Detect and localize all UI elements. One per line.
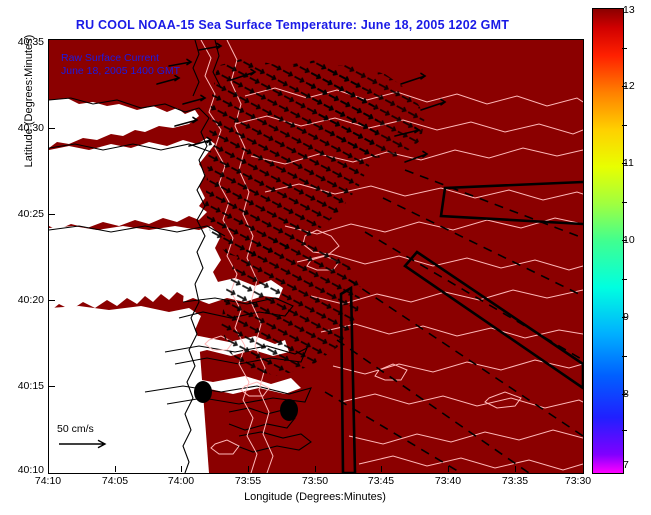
figure-title: RU COOL NOAA-15 Sea Surface Temperature:… [0, 18, 585, 32]
ytick-3: 40:20 [18, 294, 44, 306]
annotation-line-2: June 18, 2005 1400 GMT [61, 65, 180, 78]
sst-map-figure: RU COOL NOAA-15 Sea Surface Temperature:… [0, 0, 651, 515]
arrow-right-icon [57, 438, 115, 450]
cbtick-13: 13 [623, 4, 635, 16]
ytick-5: 40:10 [18, 464, 44, 476]
xtick-0: 74:10 [35, 475, 61, 487]
y-axis-label: Latitude (Degrees:Minutes) [23, 0, 35, 206]
annotation-line-1: Raw Surface Current [61, 52, 180, 65]
velocity-scale-label: 50 cm/s [57, 423, 115, 435]
xtick-1: 74:05 [102, 475, 128, 487]
xtick-4: 73:50 [302, 475, 328, 487]
sst-raster [49, 40, 583, 473]
xtick-3: 73:55 [235, 475, 261, 487]
cbtick-7: 7 [623, 459, 629, 471]
xtick-7: 73:35 [502, 475, 528, 487]
ytick-4: 40:15 [18, 380, 44, 392]
xtick-5: 73:45 [368, 475, 394, 487]
xtick-2: 74:00 [168, 475, 194, 487]
station-marker[interactable] [280, 399, 298, 421]
x-axis-label: Longitude (Degrees:Minutes) [48, 491, 582, 503]
xtick-6: 73:40 [435, 475, 461, 487]
velocity-scale-legend: 50 cm/s [57, 423, 115, 455]
current-annotation: Raw Surface Current June 18, 2005 1400 G… [61, 52, 180, 78]
station-marker[interactable] [194, 381, 212, 403]
ytick-2: 40:25 [18, 208, 44, 220]
colorbar [592, 8, 624, 474]
map-plot-area[interactable]: Raw Surface Current June 18, 2005 1400 G… [48, 39, 584, 474]
xtick-8: 73:30 [565, 475, 591, 487]
